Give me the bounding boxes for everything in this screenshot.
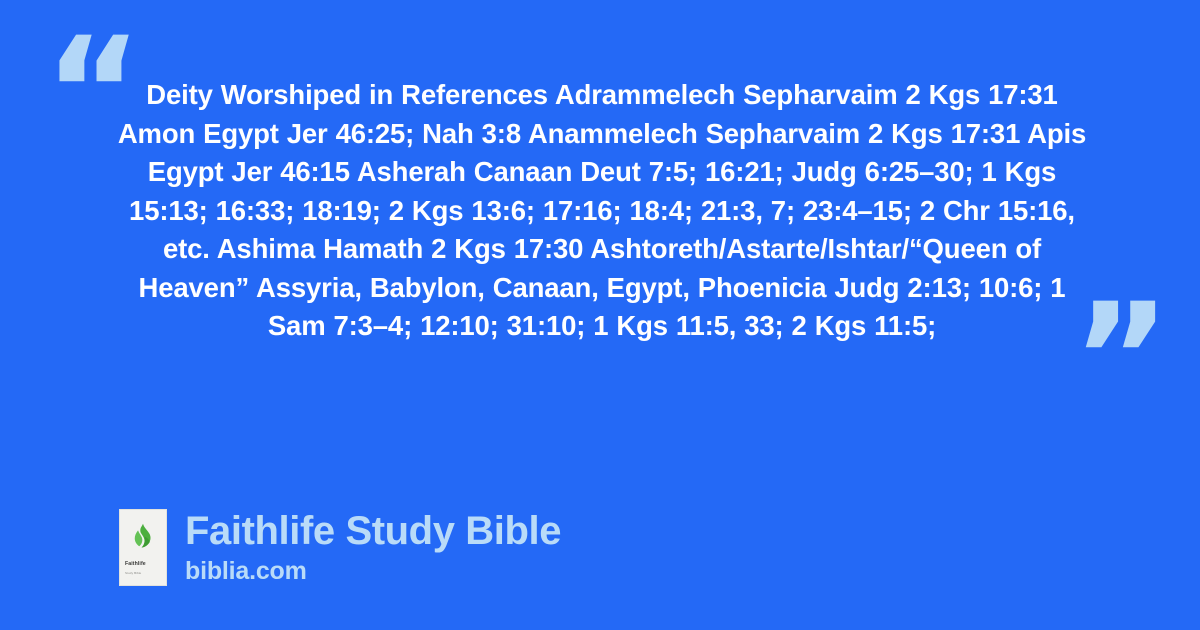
brand-text-group: Faithlife Study Bible biblia.com [185,508,561,586]
book-cover-title: Faithlife [125,562,146,567]
faithlife-leaf-icon [132,523,154,549]
quote-text: Deity Worshiped in References Adrammelec… [112,76,1092,346]
brand-footer: Faithlife Study Bible Faithlife Study Bi… [119,508,561,586]
book-cover-thumbnail: Faithlife Study Bible [119,509,167,586]
book-cover-subtitle: Study Bible [125,572,141,575]
brand-url[interactable]: biblia.com [185,556,561,586]
quote-card: “ ” Deity Worshiped in References Adramm… [0,0,1200,630]
quote-block: Deity Worshiped in References Adrammelec… [112,76,1092,346]
brand-title: Faithlife Study Bible [185,508,561,554]
